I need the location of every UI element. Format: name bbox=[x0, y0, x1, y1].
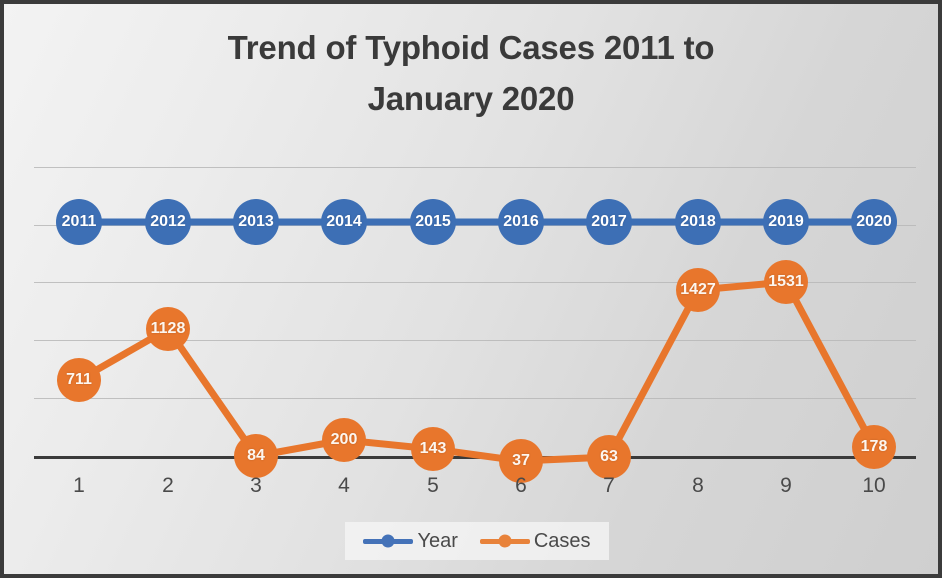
plot-area: 2011 2012 2013 2014 2015 2016 2017 2018 … bbox=[34, 154, 916, 464]
data-point-year[interactable]: 2018 bbox=[675, 199, 721, 245]
data-label-cases: 37 bbox=[512, 452, 530, 470]
chart-title-line-2: January 2020 bbox=[124, 73, 818, 124]
chart-title: Trend of Typhoid Cases 2011 to January 2… bbox=[4, 22, 938, 124]
data-point-year[interactable]: 2011 bbox=[56, 199, 102, 245]
data-label-cases: 143 bbox=[420, 440, 447, 458]
data-point-year[interactable]: 2013 bbox=[233, 199, 279, 245]
data-label-cases: 711 bbox=[66, 371, 92, 389]
x-axis-tick: 1 bbox=[73, 474, 85, 498]
x-axis-tick: 4 bbox=[338, 474, 350, 498]
data-label-year: 2018 bbox=[680, 213, 716, 231]
data-point-year[interactable]: 2016 bbox=[498, 199, 544, 245]
data-label-year: 2016 bbox=[503, 213, 539, 231]
x-axis-tick: 3 bbox=[250, 474, 262, 498]
legend-label-cases: Cases bbox=[534, 530, 591, 553]
chart-title-line-1: Trend of Typhoid Cases 2011 to bbox=[124, 22, 818, 73]
x-axis-tick-labels: 1 2 3 4 5 6 7 8 9 10 bbox=[34, 474, 916, 504]
data-point-year[interactable]: 2014 bbox=[321, 199, 367, 245]
x-axis-tick: 5 bbox=[427, 474, 439, 498]
data-label-year: 2017 bbox=[591, 213, 627, 231]
x-axis-tick: 7 bbox=[603, 474, 615, 498]
data-point-cases[interactable]: 178 bbox=[852, 425, 896, 469]
data-point-cases[interactable]: 1427 bbox=[676, 268, 720, 312]
data-point-year[interactable]: 2012 bbox=[145, 199, 191, 245]
x-axis-tick: 10 bbox=[862, 474, 885, 498]
chart-legend: Year Cases bbox=[345, 522, 609, 560]
data-point-year[interactable]: 2019 bbox=[763, 199, 809, 245]
x-axis-tick: 9 bbox=[780, 474, 792, 498]
chart-surface: Trend of Typhoid Cases 2011 to January 2… bbox=[4, 4, 938, 574]
legend-item-year[interactable]: Year bbox=[363, 530, 457, 553]
legend-marker-icon bbox=[363, 539, 413, 544]
x-axis-tick: 2 bbox=[162, 474, 174, 498]
data-label-cases: 200 bbox=[331, 431, 358, 449]
data-point-cases[interactable]: 1531 bbox=[764, 260, 808, 304]
data-label-year: 2013 bbox=[238, 213, 274, 231]
data-point-cases[interactable]: 143 bbox=[411, 427, 455, 471]
data-point-year[interactable]: 2017 bbox=[586, 199, 632, 245]
data-point-year[interactable]: 2015 bbox=[410, 199, 456, 245]
data-label-cases: 1531 bbox=[768, 273, 804, 291]
data-point-cases[interactable]: 1128 bbox=[146, 307, 190, 351]
data-point-cases[interactable]: 63 bbox=[587, 435, 631, 479]
data-point-cases[interactable]: 711 bbox=[57, 358, 101, 402]
x-axis-tick: 8 bbox=[692, 474, 704, 498]
data-label-year: 2019 bbox=[768, 213, 804, 231]
data-label-year: 2015 bbox=[415, 213, 451, 231]
data-label-cases: 1427 bbox=[680, 281, 716, 299]
data-label-cases: 1128 bbox=[151, 320, 186, 338]
data-label-year: 2020 bbox=[856, 213, 892, 231]
data-label-cases: 63 bbox=[600, 448, 618, 466]
series-line-cases bbox=[79, 282, 874, 461]
x-axis-tick: 6 bbox=[515, 474, 527, 498]
data-label-cases: 178 bbox=[861, 438, 888, 456]
data-label-year: 2014 bbox=[326, 213, 362, 231]
data-point-year[interactable]: 2020 bbox=[851, 199, 897, 245]
chart-image: Trend of Typhoid Cases 2011 to January 2… bbox=[0, 0, 942, 578]
legend-label-year: Year bbox=[417, 530, 457, 553]
legend-marker-icon bbox=[480, 539, 530, 544]
data-point-cases[interactable]: 200 bbox=[322, 418, 366, 462]
data-label-cases: 84 bbox=[247, 447, 265, 465]
data-label-year: 2011 bbox=[62, 213, 97, 231]
data-label-year: 2012 bbox=[150, 213, 186, 231]
data-point-cases[interactable]: 84 bbox=[234, 434, 278, 478]
legend-item-cases[interactable]: Cases bbox=[480, 530, 591, 553]
